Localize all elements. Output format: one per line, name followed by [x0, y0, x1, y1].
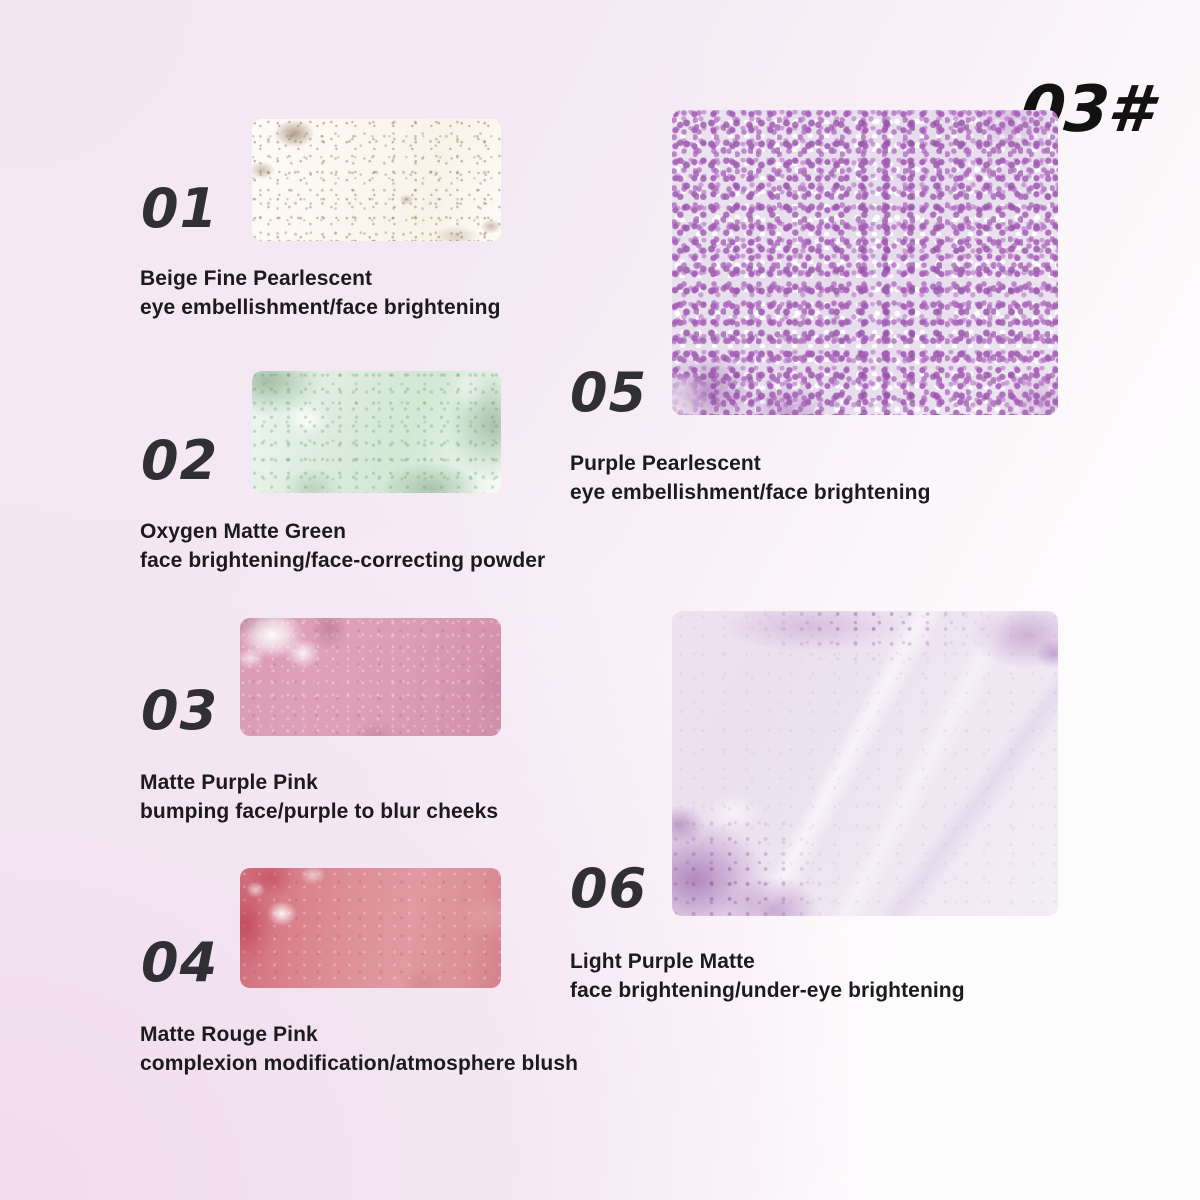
- swatch-01[interactable]: [252, 119, 501, 241]
- swatch-02-speckle: [252, 371, 501, 493]
- shade-caption-04: Matte Rouge Pink complexion modification…: [140, 1021, 578, 1079]
- swatch-06-grain: [672, 611, 1058, 916]
- shade-usage-05: eye embellishment/face brightening: [570, 479, 931, 508]
- shade-number-01: 01: [141, 182, 218, 236]
- shade-number-02: 02: [141, 434, 218, 488]
- shade-usage-02: face brightening/face-correcting powder: [140, 547, 545, 576]
- shade-usage-03: bumping face/purple to blur cheeks: [140, 798, 498, 827]
- swatch-05-blotch: [672, 110, 1058, 415]
- swatch-02[interactable]: [252, 371, 501, 493]
- shade-number-04: 04: [141, 936, 218, 990]
- shade-caption-02: Oxygen Matte Green face brightening/face…: [140, 518, 545, 576]
- shade-name-04: Matte Rouge Pink: [140, 1021, 578, 1050]
- shade-name-02: Oxygen Matte Green: [140, 518, 545, 547]
- shade-caption-06: Light Purple Matte face brightening/unde…: [570, 948, 965, 1006]
- product-shade-chart: 03# 01 Beige Fine Pearlescent eye embell…: [0, 0, 1200, 1200]
- shade-name-06: Light Purple Matte: [570, 948, 965, 977]
- shade-caption-05: Purple Pearlescent eye embellishment/fac…: [570, 450, 931, 508]
- shade-usage-04: complexion modification/atmosphere blush: [140, 1050, 578, 1079]
- swatch-01-blotch: [252, 119, 501, 241]
- swatch-04[interactable]: [240, 868, 501, 988]
- swatch-06[interactable]: [672, 611, 1058, 916]
- shade-caption-01: Beige Fine Pearlescent eye embellishment…: [140, 265, 501, 323]
- swatch-03-blotch: [240, 618, 501, 736]
- shade-number-05: 05: [570, 366, 647, 420]
- shade-number-03: 03: [141, 684, 218, 738]
- swatch-04-blotch: [240, 868, 501, 988]
- swatch-05[interactable]: [672, 110, 1058, 415]
- shade-name-03: Matte Purple Pink: [140, 769, 498, 798]
- swatch-03[interactable]: [240, 618, 501, 736]
- shade-caption-03: Matte Purple Pink bumping face/purple to…: [140, 769, 498, 827]
- shade-number-06: 06: [570, 862, 647, 916]
- shade-usage-01: eye embellishment/face brightening: [140, 294, 501, 323]
- shade-name-01: Beige Fine Pearlescent: [140, 265, 501, 294]
- shade-name-05: Purple Pearlescent: [570, 450, 931, 479]
- shade-usage-06: face brightening/under-eye brightening: [570, 977, 965, 1006]
